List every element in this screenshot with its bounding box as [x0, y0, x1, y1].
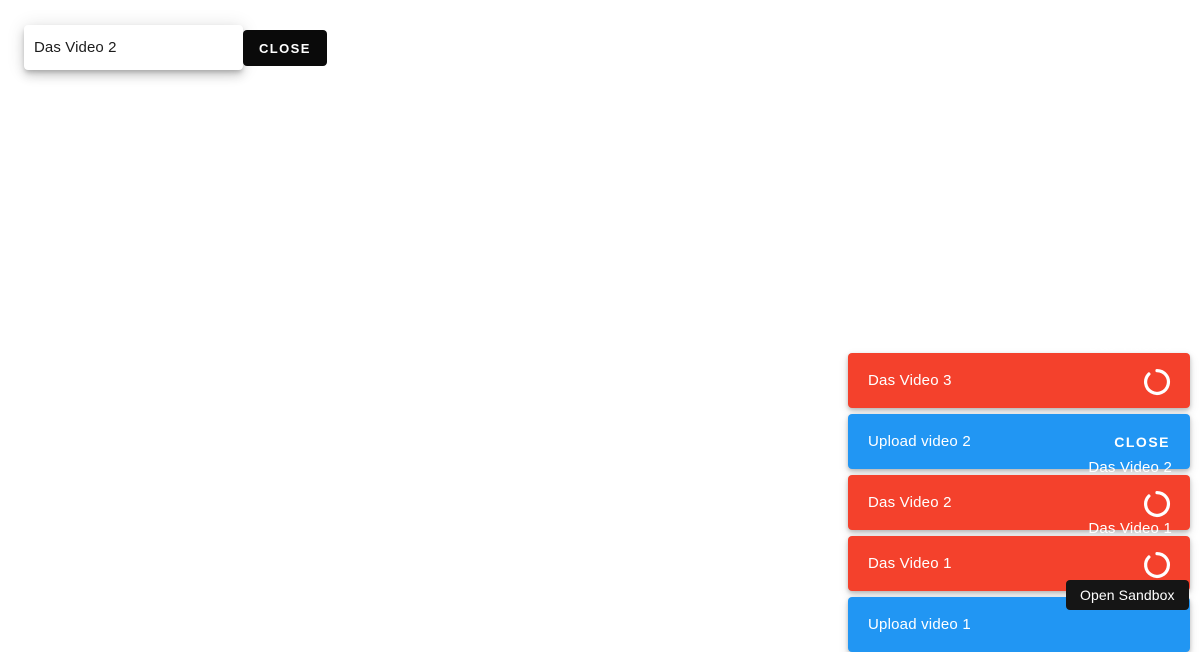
snackbar-close-button[interactable]: CLOSE — [243, 30, 327, 66]
toast-action: Das Video 1 — [1142, 548, 1172, 580]
toast-action: Das Video 2 — [1142, 487, 1172, 519]
loading-spinner-icon — [1142, 367, 1172, 397]
snackbar-message: Das Video 2 — [34, 40, 117, 55]
toast-action-title: Das Video 2 — [1088, 459, 1172, 476]
snackbar-card: Das Video 2 — [24, 25, 243, 70]
toast-message: Das Video 2 — [868, 494, 1142, 511]
toast-message: Das Video 1 — [868, 555, 1142, 572]
toast-message: Upload video 2 — [868, 433, 1112, 450]
open-sandbox-button[interactable]: Open Sandbox — [1066, 580, 1189, 610]
loading-spinner-icon — [1142, 550, 1172, 580]
toast-action-title: Das Video 1 — [1088, 520, 1172, 537]
toast-message: Das Video 3 — [868, 372, 1142, 389]
toast-message: Upload video 1 — [868, 616, 1172, 633]
loading-spinner-icon — [1142, 489, 1172, 519]
toast-item[interactable]: Das Video 3 Das Video 3 — [848, 353, 1190, 408]
toast-action: Das Video 3 — [1142, 365, 1172, 397]
snackbar-top-left: Das Video 2 CLOSE — [24, 25, 243, 70]
toast-action-title: Das Video 3 — [1088, 337, 1172, 354]
toast-close-button[interactable]: CLOSE — [1112, 430, 1172, 454]
